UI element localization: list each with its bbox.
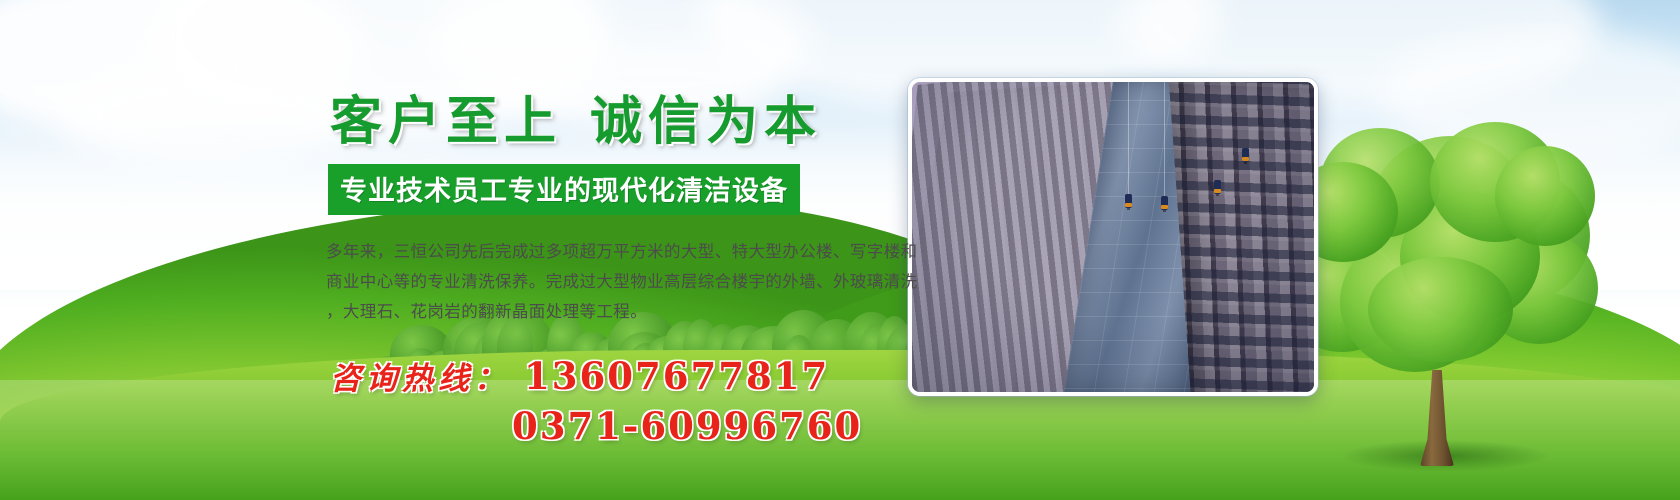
description-line: 商业中心等的专业清洗保养。完成过大型物业高层综合楼宇的外墙、外玻璃清洗 xyxy=(326,267,888,297)
banner-copy: 客户至上诚信为本 专业技术员工专业的现代化清洁设备 多年来，三恒公司先后完成过多… xyxy=(322,95,902,448)
tree-graphic xyxy=(1280,122,1600,472)
hotline-label: 咨询热线： xyxy=(330,361,510,397)
building-photo[interactable] xyxy=(908,78,1318,396)
promo-banner: 客户至上诚信为本 专业技术员工专业的现代化清洁设备 多年来，三恒公司先后完成过多… xyxy=(0,0,1680,500)
hotline-landline-number[interactable]: 0371-60996760 xyxy=(512,404,902,448)
description-paragraph: 多年来，三恒公司先后完成过多项超万平方米的大型、特大型办公楼、写字楼和 商业中心… xyxy=(326,237,888,327)
headline-part-1: 客户至上 xyxy=(330,91,562,152)
tree-trunk xyxy=(1420,370,1454,466)
photo-vignette xyxy=(912,82,1314,392)
description-line: ，大理石、花岗岩的翻新晶面处理等工程。 xyxy=(326,297,888,327)
tree-canopy xyxy=(1280,122,1600,372)
hotline-mobile-number[interactable]: 13607677817 xyxy=(524,354,829,398)
headline-part-2: 诚信为本 xyxy=(590,91,822,152)
hotline-block: 咨询热线：13607677817 0371-60996760 xyxy=(330,353,902,448)
headline: 客户至上诚信为本 xyxy=(330,95,902,150)
description-line: 多年来，三恒公司先后完成过多项超万平方米的大型、特大型办公楼、写字楼和 xyxy=(326,237,888,267)
subtitle-bar: 专业技术员工专业的现代化清洁设备 xyxy=(328,164,800,215)
